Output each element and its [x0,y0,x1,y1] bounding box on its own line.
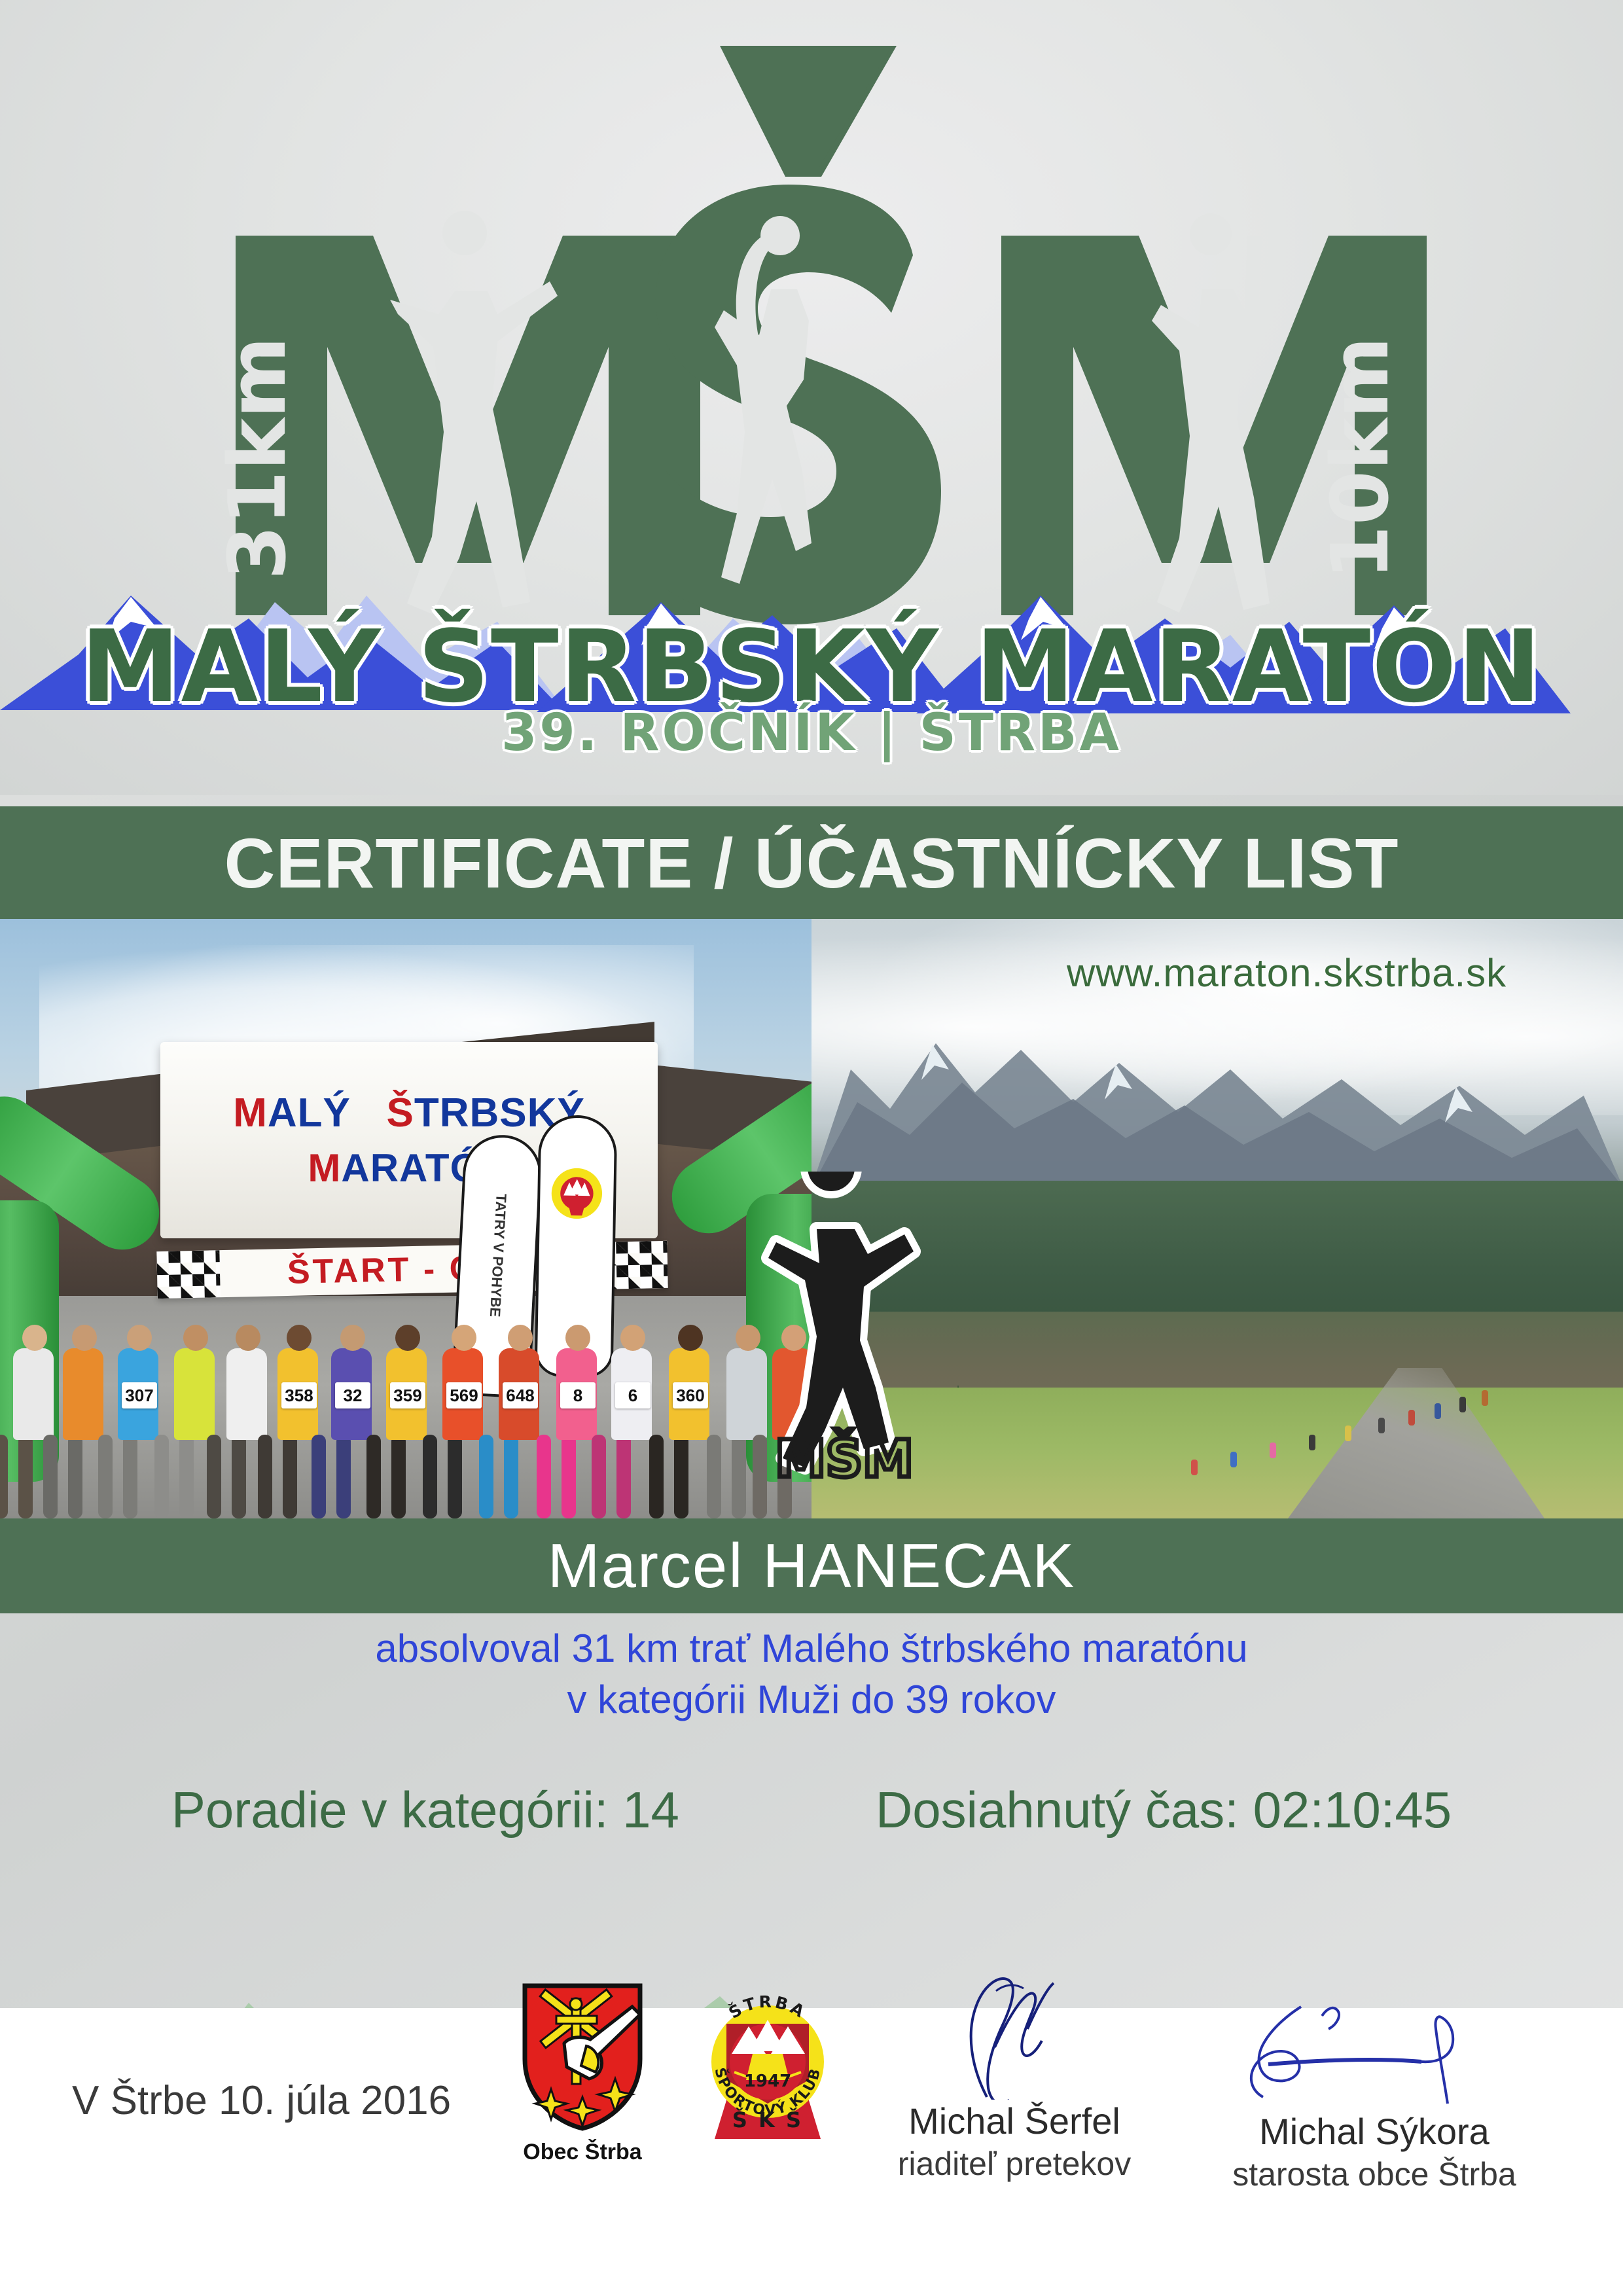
signatory-name: Michal Sýkora [1191,2110,1558,2153]
msm-runner-overlay-icon: MŠM [733,1172,955,1486]
msm-wordmark: 31km 10km [157,39,1466,632]
letter-m-left: 31km [213,211,700,615]
msm-overlay-mark: MŠM [733,1429,955,1486]
finish-time-value: 02:10:45 [1253,1781,1452,1839]
logo-obec-strba: Obec Štrba [497,1981,668,2165]
logo-obec-caption: Obec Štrba [497,2140,668,2165]
coat-of-arms-icon [517,1981,648,2131]
footer: V Štrbe 10. júla 2016 [0,1929,1623,2296]
certificate-band: CERTIFICATE / ÚČASTNÍCKY LIST [0,806,1623,919]
runner-bib: 6 [615,1382,651,1408]
svg-text:MŠM: MŠM [775,1429,913,1486]
participant-name: Marcel HANECAK [548,1530,1076,1602]
runner-bib: 32 [335,1382,370,1408]
page-subtitle: 39. ROČNÍK | ŠTRBA [0,704,1623,762]
header-logo-area: 31km 10km [0,0,1623,795]
signature-scrawl-director [831,1969,1198,2100]
distance-right-label: 10km [1315,336,1406,580]
category-rank-label: Poradie v kategórii: [171,1781,609,1839]
finish-time-label: Dosiahnutý čas: [876,1781,1239,1839]
signature-block-director: Michal Šerfel riaditeľ pretekov [831,1969,1198,2183]
signature-block-mayor: Michal Sýkora starosta obce Štrba [1191,1979,1558,2193]
finish-time: Dosiahnutý čas: 02:10:45 [876,1780,1452,1840]
runner-bib: 569 [446,1382,482,1408]
runner-bib: 648 [503,1382,538,1408]
signature-scrawl-mayor [1191,1979,1558,2110]
runner-bib: 8 [560,1382,596,1408]
runner-bib: 360 [673,1382,708,1408]
result-stats: Poradie v kategórii: 14 Dosiahnutý čas: … [0,1780,1623,1840]
description-line-2: v kategórii Muži do 39 rokov [0,1674,1623,1725]
runner-bib: 307 [122,1382,157,1408]
sks-banner-label: Š K Š [732,2107,803,2132]
result-description: absolvoval 31 km trať Malého štrbského m… [0,1623,1623,1725]
category-rank: Poradie v kategórii: 14 [171,1780,679,1840]
signatory-role: riaditeľ pretekov [831,2145,1198,2183]
runner-bib: 359 [390,1382,425,1408]
certificate-band-label: CERTIFICATE / ÚČASTNÍCKY LIST [224,822,1399,904]
signatory-role: starosta obce Štrba [1191,2155,1558,2193]
letter-m-right: 10km [1001,213,1427,615]
distance-left-label: 31km [213,336,304,580]
sks-year: 1947 [744,2072,791,2091]
runner-crowd: 307 358 32 [0,1211,811,1518]
category-rank-value: 14 [622,1781,679,1839]
certificate-page: 31km 10km [0,0,1623,2296]
tatra-peaks-graphic [811,971,1623,1187]
website-url: www.maraton.skstrba.sk [1067,950,1507,996]
description-line-1: absolvoval 31 km trať Malého štrbského m… [0,1623,1623,1674]
photo-start-line: MALÝ ŠTRBSKÝ MARATÓN ŠTART - CIEĽ TATRY … [0,919,811,1518]
issue-date: V Štrbe 10. júla 2016 [72,2077,451,2124]
signatory-name: Michal Šerfel [831,2100,1198,2142]
participant-name-band: Marcel HANECAK [0,1518,1623,1613]
runner-bib: 358 [281,1382,317,1408]
sks-club-icon: 1947 ŠTRBA ŠPORTOVÝ KLUB Š K Š [692,1982,843,2145]
